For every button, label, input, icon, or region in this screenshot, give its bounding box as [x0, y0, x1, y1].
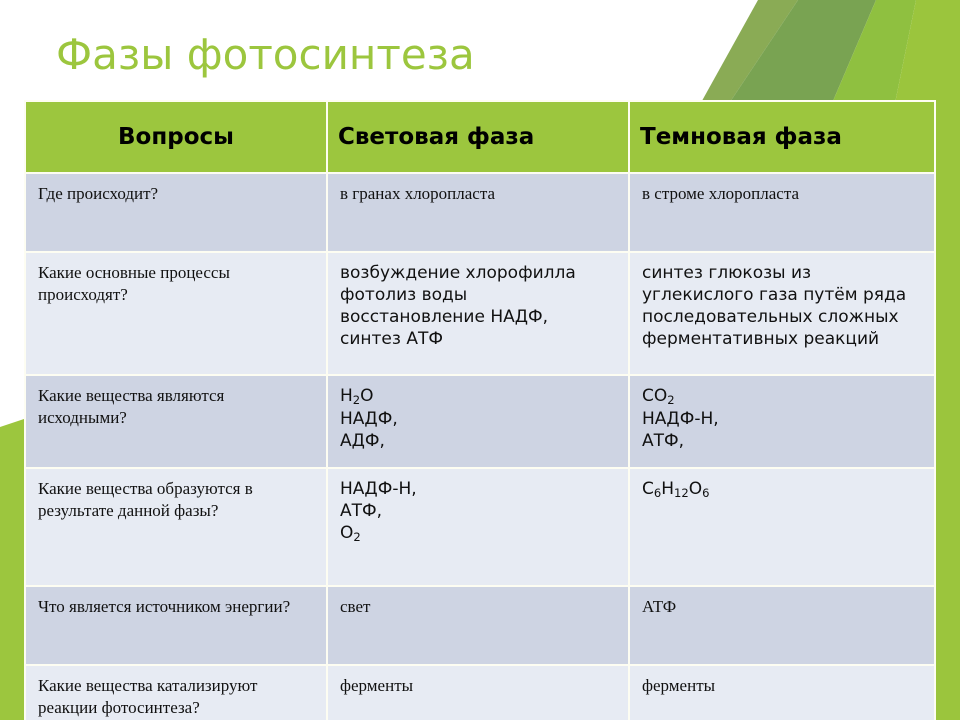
cell-question: Что является источником энергии?: [26, 587, 326, 664]
cell-text-line: C6H12O6: [642, 478, 922, 501]
cell-dark-phase: CO2НАДФ-Н,АТФ,: [630, 376, 934, 467]
table-row: Какие вещества катализируют реакции фото…: [26, 666, 934, 720]
table-row: Какие вещества являются исходными? H2OНА…: [26, 376, 934, 467]
photosynthesis-phases-table: Вопросы Световая фаза Темновая фаза Где …: [24, 100, 936, 720]
cell-text-line: АТФ: [642, 596, 922, 618]
cell-text-line: АТФ,: [642, 430, 922, 452]
cell-dark-phase: C6H12O6: [630, 469, 934, 585]
cell-light-phase: НАДФ-Н,АТФ,O2: [328, 469, 628, 585]
phases-table-container: Вопросы Световая фаза Темновая фаза Где …: [24, 100, 932, 720]
cell-question: Какие вещества катализируют реакции фото…: [26, 666, 326, 720]
cell-text-line: последовательных сложных: [642, 306, 922, 328]
slide-canvas: Фазы фотосинтеза Вопросы Световая фаза Т…: [0, 0, 960, 720]
cell-question: Какие вещества являются исходными?: [26, 376, 326, 467]
table-header-row: Вопросы Световая фаза Темновая фаза: [26, 102, 934, 172]
cell-dark-phase: АТФ: [630, 587, 934, 664]
cell-text-line: синтез АТФ: [340, 328, 616, 350]
table-row: Какие вещества образуются в результате д…: [26, 469, 934, 585]
cell-text-line: углекислого газа путём ряда: [642, 284, 922, 306]
cell-text-line: НАДФ-Н,: [642, 408, 922, 430]
cell-text-line: НАДФ,: [340, 408, 616, 430]
cell-light-phase: возбуждение хлорофиллафотолиз водывосста…: [328, 253, 628, 374]
cell-text-line: НАДФ-Н,: [340, 478, 616, 500]
cell-light-phase: в гранах хлоропласта: [328, 174, 628, 251]
cell-question: Где происходит?: [26, 174, 326, 251]
cell-text-line: CO2: [642, 385, 922, 408]
cell-text-line: АТФ,: [340, 500, 616, 522]
cell-text-line: возбуждение хлорофилла: [340, 262, 616, 284]
table-row: Где происходит? в гранах хлоропласта в с…: [26, 174, 934, 251]
cell-text-line: ферменты: [642, 675, 922, 697]
column-header-questions: Вопросы: [26, 102, 326, 172]
cell-text-line: фотолиз воды: [340, 284, 616, 306]
cell-text-line: H2O: [340, 385, 616, 408]
cell-light-phase: H2OНАДФ,АДФ,: [328, 376, 628, 467]
cell-text-line: синтез глюкозы из: [642, 262, 922, 284]
cell-text-line: свет: [340, 596, 616, 618]
table-row: Что является источником энергии? свет АТ…: [26, 587, 934, 664]
cell-text-line: восстановление НАДФ,: [340, 306, 616, 328]
cell-dark-phase: в строме хлоропласта: [630, 174, 934, 251]
cell-text-line: в гранах хлоропласта: [340, 183, 616, 205]
page-title: Фазы фотосинтеза: [56, 32, 475, 78]
cell-text-line: в строме хлоропласта: [642, 183, 922, 205]
column-header-dark-phase: Темновая фаза: [630, 102, 934, 172]
cell-question: Какие основные процессы происходят?: [26, 253, 326, 374]
column-header-light-phase: Световая фаза: [328, 102, 628, 172]
cell-dark-phase: ферменты: [630, 666, 934, 720]
cell-light-phase: свет: [328, 587, 628, 664]
table-body: Где происходит? в гранах хлоропласта в с…: [26, 174, 934, 720]
cell-question: Какие вещества образуются в результате д…: [26, 469, 326, 585]
cell-text-line: O2: [340, 522, 616, 545]
cell-text-line: ферменты: [340, 675, 616, 697]
table-row: Какие основные процессы происходят? возб…: [26, 253, 934, 374]
cell-light-phase: ферменты: [328, 666, 628, 720]
cell-text-line: АДФ,: [340, 430, 616, 452]
cell-dark-phase: синтез глюкозы изуглекислого газа путём …: [630, 253, 934, 374]
cell-text-line: ферментативных реакций: [642, 328, 922, 350]
